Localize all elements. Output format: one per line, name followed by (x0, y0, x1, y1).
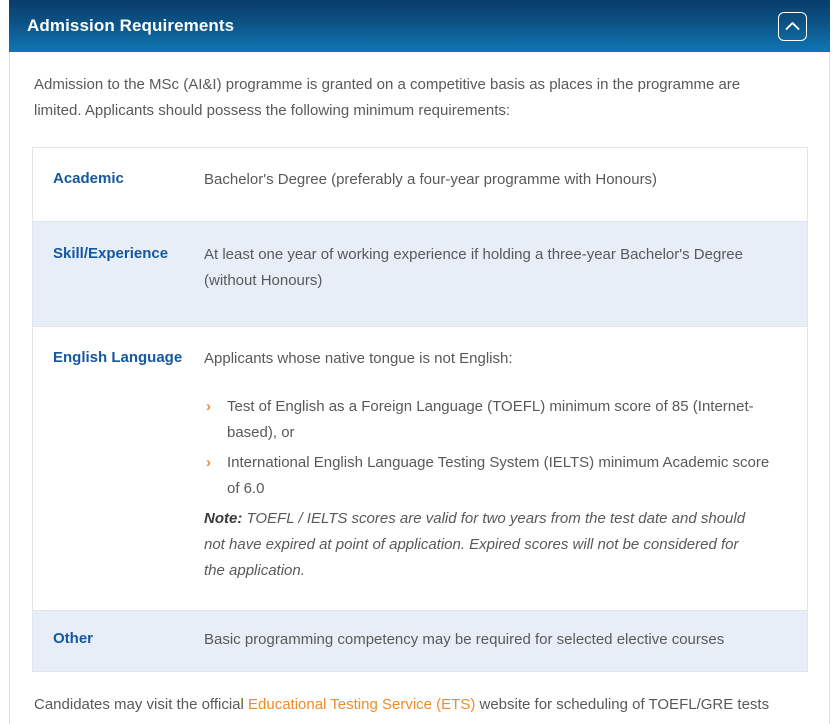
panel-header[interactable]: Admission Requirements (9, 0, 830, 52)
requirement-label: Other (33, 611, 204, 669)
list-item-label: Test of English as a Foreign Language (T… (227, 398, 754, 441)
table-row: English Language Applicants whose native… (33, 327, 807, 611)
requirement-text: Basic programming competency may be requ… (204, 627, 783, 653)
chevron-right-icon: › (206, 394, 211, 420)
requirement-value: Basic programming competency may be requ… (204, 611, 807, 671)
requirement-label: English Language (33, 327, 204, 390)
requirement-text: At least one year of working experience … (204, 242, 783, 294)
requirement-text: Bachelor's Degree (preferably a four-yea… (204, 167, 783, 193)
footer-note: Candidates may visit the official Educat… (10, 672, 829, 718)
ets-link[interactable]: Educational Testing Service (ETS) (248, 696, 475, 713)
requirement-value: At least one year of working experience … (204, 222, 807, 326)
intro-paragraph: Admission to the MSc (AI&I) programme is… (10, 52, 800, 124)
page-title: Admission Requirements (27, 16, 778, 36)
requirement-label: Skill/Experience (33, 222, 204, 298)
list-item-label: International English Language Testing S… (227, 454, 769, 497)
note-text: TOEFL / IELTS scores are valid for two y… (204, 510, 745, 579)
note-label: Note: (204, 510, 242, 527)
requirement-value: Applicants whose native tongue is not En… (204, 327, 807, 610)
chevron-right-icon: › (206, 450, 211, 476)
requirement-label: Academic (33, 148, 204, 219)
list-item: › Test of English as a Foreign Language … (204, 394, 783, 446)
table-row: Skill/Experience At least one year of wo… (33, 222, 807, 327)
footer-text-before: Candidates may visit the official (34, 696, 248, 713)
chevron-up-icon (785, 21, 800, 31)
requirement-value: Bachelor's Degree (preferably a four-yea… (204, 148, 807, 221)
list-item: › International English Language Testing… (204, 450, 783, 502)
footer-text-after: website for scheduling of TOEFL/GRE test… (475, 696, 769, 713)
validity-note: Note: TOEFL / IELTS scores are valid for… (204, 506, 760, 584)
requirement-text: Applicants whose native tongue is not En… (204, 346, 783, 372)
requirements-table: Academic Bachelor's Degree (preferably a… (32, 147, 808, 672)
english-test-list: › Test of English as a Foreign Language … (204, 394, 783, 502)
admission-requirements-panel: Admission Requirements Admission to the … (0, 0, 839, 724)
table-row: Other Basic programming competency may b… (33, 611, 807, 671)
table-row: Academic Bachelor's Degree (preferably a… (33, 148, 807, 222)
collapse-panel-button[interactable] (778, 12, 807, 41)
panel-body: Admission to the MSc (AI&I) programme is… (9, 52, 830, 724)
